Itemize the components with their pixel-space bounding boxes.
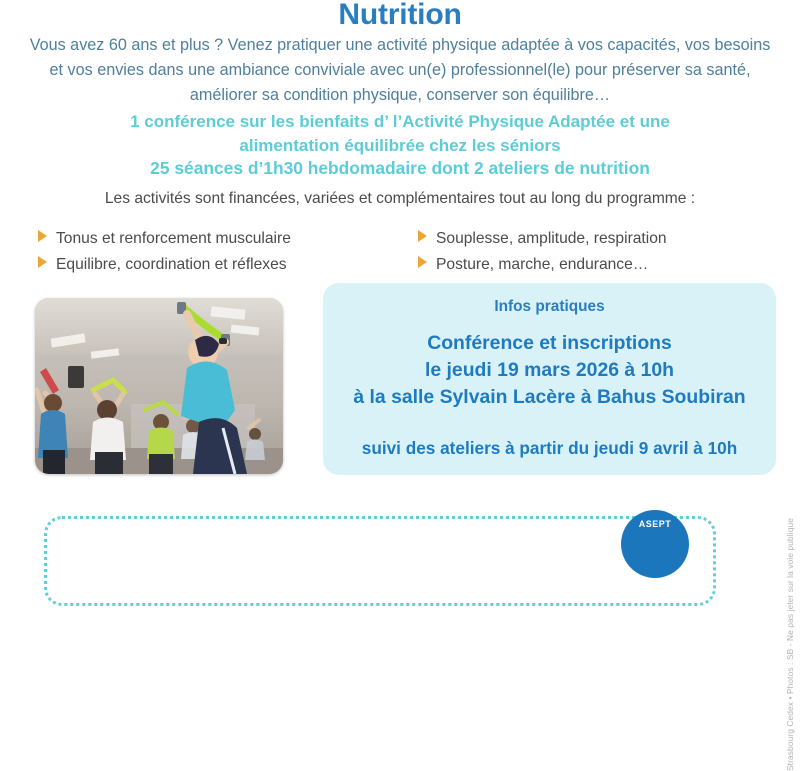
list-item: Tonus et renforcement musculaire <box>38 228 418 250</box>
practical-info-main: Conférence et inscriptions le jeudi 19 m… <box>323 330 776 411</box>
list-item: Equilibre, coordination et réflexes <box>38 254 418 276</box>
intro-paragraph: Vous avez 60 ans et plus ? Venez pratiqu… <box>28 33 772 108</box>
activities-subnote: Les activités sont financées, variées et… <box>0 188 800 210</box>
list-item-label: Posture, marche, endurance… <box>436 254 648 276</box>
triangle-bullet-icon <box>38 256 47 268</box>
activity-photo <box>35 298 283 474</box>
conference-location: à la salle Sylvain Lacère à Bahus Soubir… <box>323 384 776 411</box>
page-title: Nutrition <box>0 0 800 32</box>
list-item: Souplesse, amplitude, respiration <box>418 228 758 250</box>
activity-photo-image <box>35 298 283 474</box>
highlight-block: 1 conférence sur les bienfaits d’ l’Acti… <box>60 110 740 181</box>
list-item-label: Equilibre, coordination et réflexes <box>56 254 287 276</box>
benefits-column-right: Souplesse, amplitude, respiration Postur… <box>418 228 758 280</box>
triangle-bullet-icon <box>418 256 427 268</box>
highlight-line-3: 25 séances d’1h30 hebdomadaire dont 2 at… <box>60 157 740 181</box>
triangle-bullet-icon <box>418 230 427 242</box>
list-item-label: Souplesse, amplitude, respiration <box>436 228 667 250</box>
triangle-bullet-icon <box>38 230 47 242</box>
benefits-list: Tonus et renforcement musculaire Equilib… <box>38 228 758 280</box>
conference-label: Conférence et inscriptions <box>323 330 776 357</box>
highlight-line-2: alimentation équilibrée chez les séniors <box>60 134 740 158</box>
highlight-line-1: 1 conférence sur les bienfaits d’ l’Acti… <box>60 110 740 134</box>
conference-date: le jeudi 19 mars 2026 à 10h <box>323 357 776 384</box>
legal-vertical-note: Strasbourg Cedex • Photos : SB - Ne pas … <box>785 518 795 771</box>
practical-info-box: Infos pratiques Conférence et inscriptio… <box>323 283 776 475</box>
benefits-column-left: Tonus et renforcement musculaire Equilib… <box>38 228 418 280</box>
practical-info-heading: Infos pratiques <box>323 296 776 318</box>
list-item: Posture, marche, endurance… <box>418 254 758 276</box>
workshops-start-note: suivi des ateliers à partir du jeudi 9 a… <box>323 436 776 460</box>
list-item-label: Tonus et renforcement musculaire <box>56 228 291 250</box>
organization-seal: ASEPT <box>621 510 689 578</box>
